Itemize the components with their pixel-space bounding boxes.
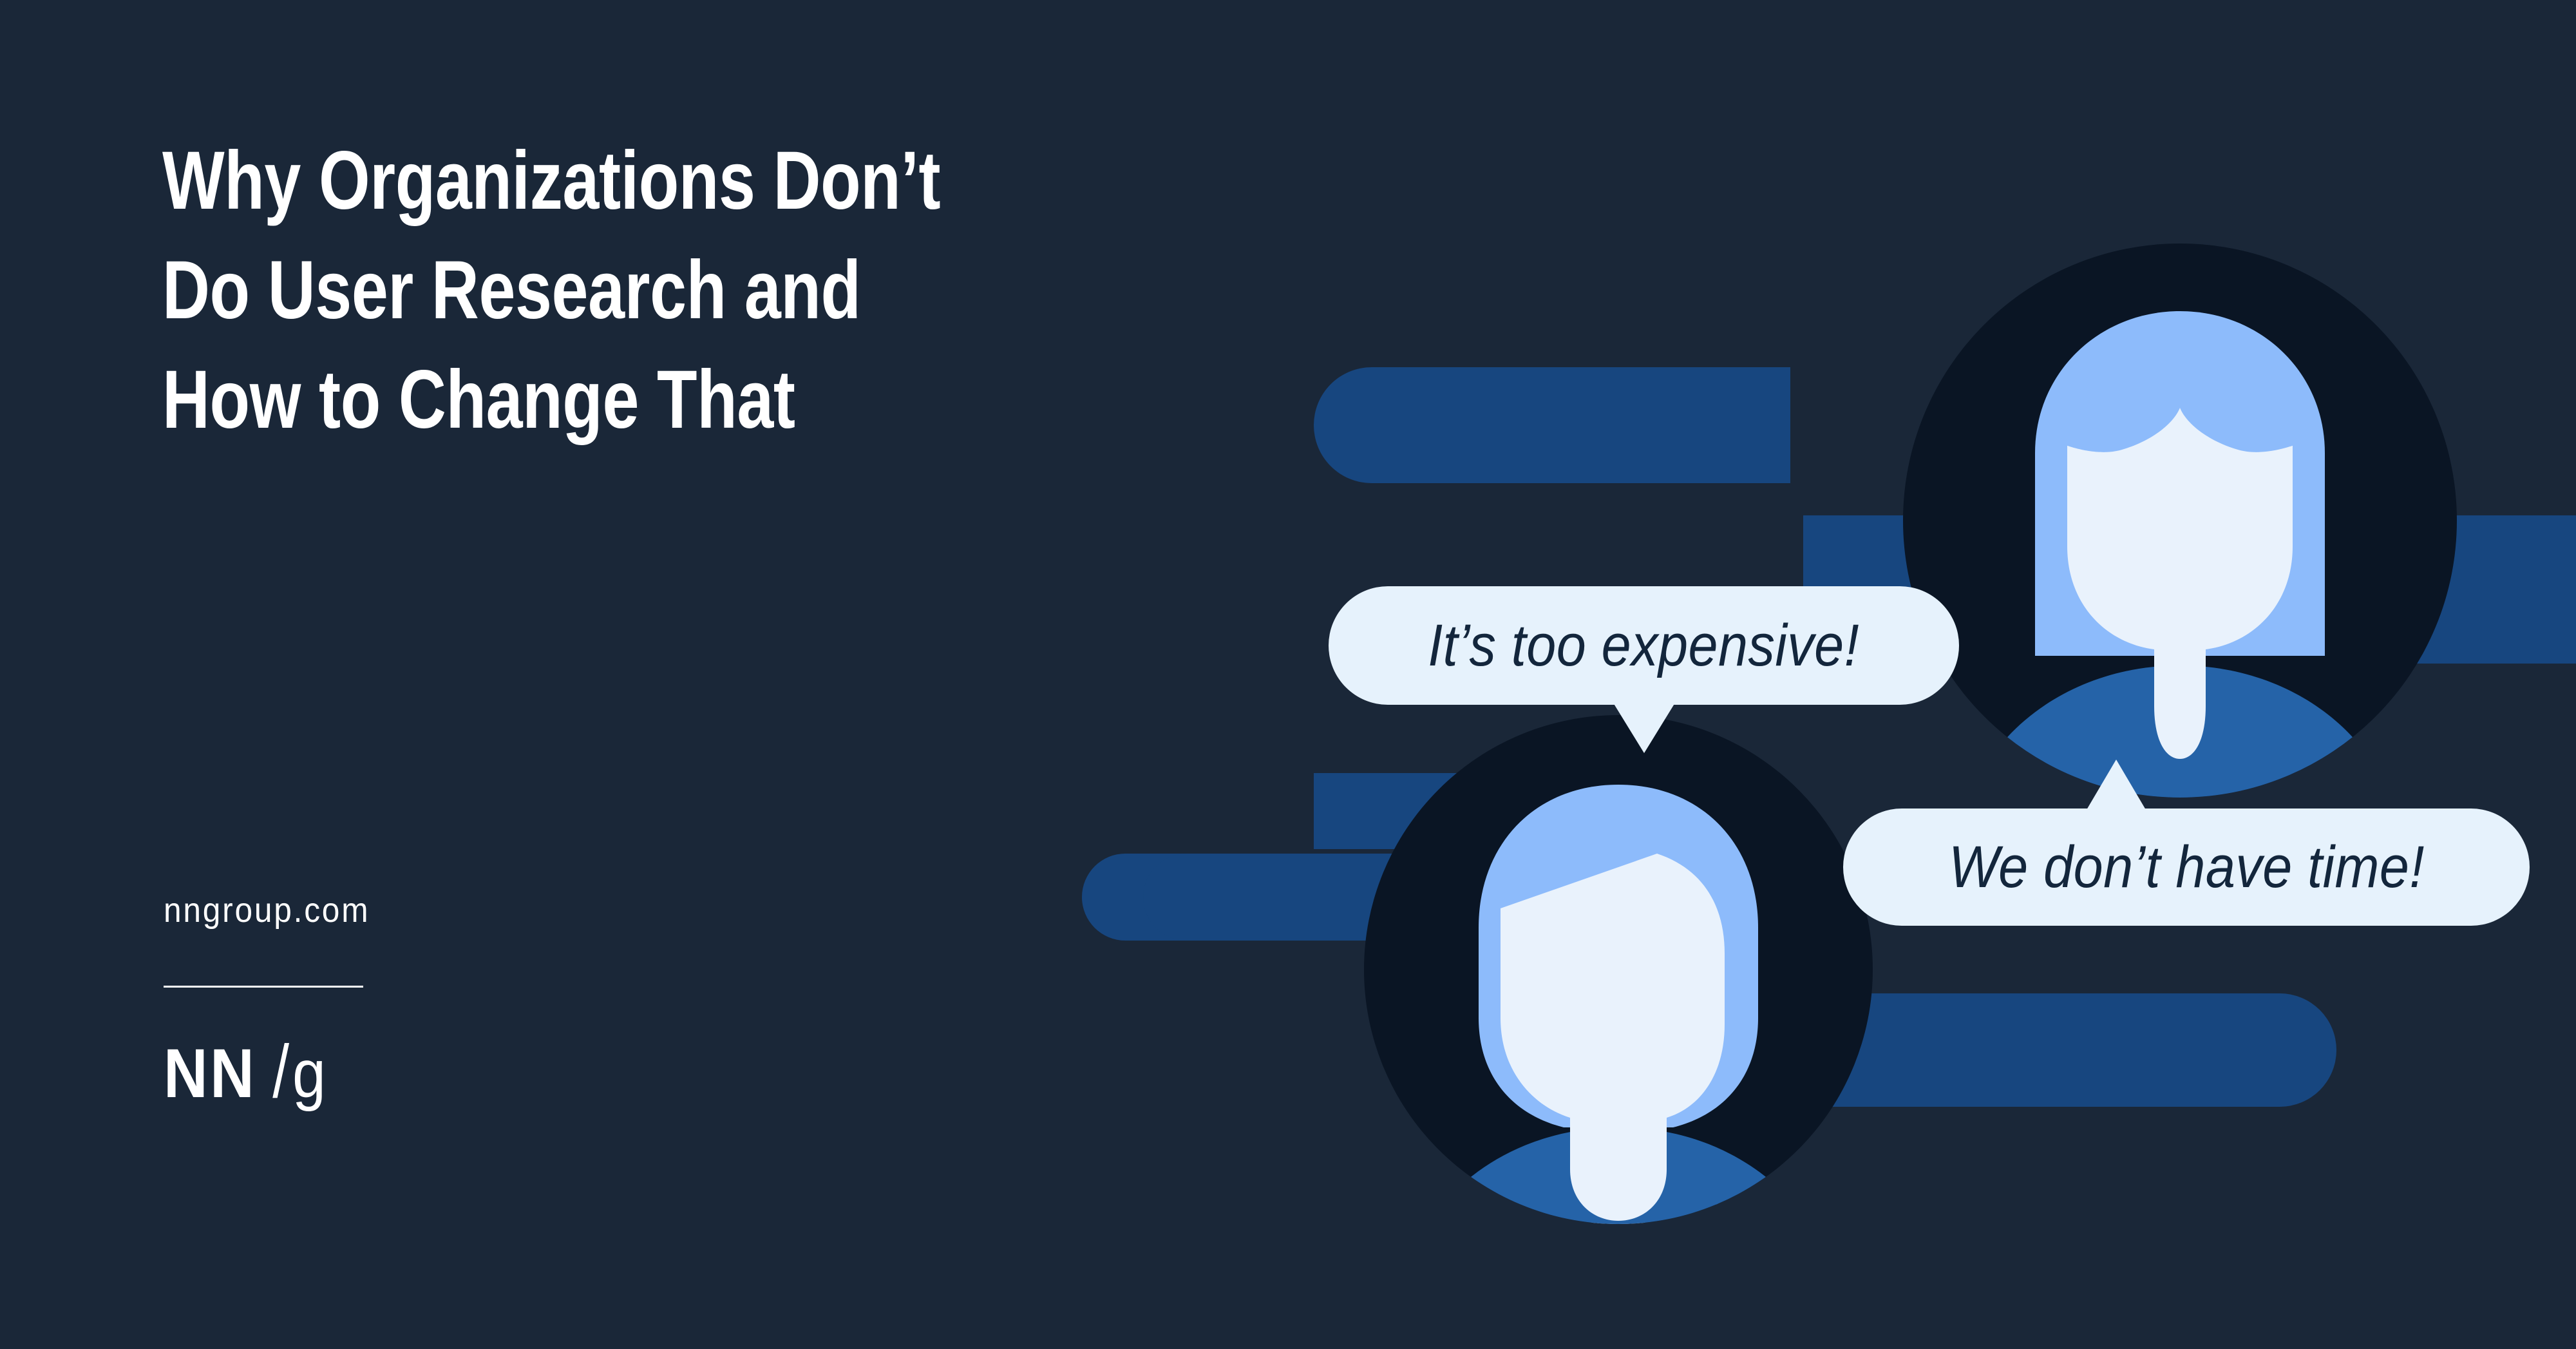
- speech-bubble-tail-up: [2087, 760, 2146, 810]
- avatar-neck: [1570, 1102, 1667, 1221]
- speech-bubble-expensive-text: It’s too expensive!: [1428, 612, 1860, 680]
- logo-nn-text: NN: [164, 1038, 256, 1108]
- title-line-1: Why Organizations Don’t: [162, 126, 1244, 236]
- website-url[interactable]: nngroup.com: [164, 890, 370, 930]
- nng-logo[interactable]: NN / g: [164, 1034, 388, 1109]
- poster-canvas: It’s too expensive! We don’t have time! …: [0, 0, 2576, 1349]
- page-title: Why Organizations Don’t Do User Research…: [162, 126, 1515, 455]
- title-line-2: Do User Research and: [162, 236, 1244, 345]
- avatar-neck: [2154, 630, 2206, 759]
- logo-slash: /: [272, 1034, 289, 1109]
- speech-bubble-time-text: We don’t have time!: [1949, 834, 2425, 901]
- avatar-bottom: [1364, 715, 1873, 1224]
- title-line-3: How to Change That: [162, 345, 1244, 455]
- speech-bubble-tail-down: [1613, 703, 1675, 753]
- divider-rule: [164, 986, 363, 988]
- speech-bubble-time: We don’t have time!: [1843, 808, 2530, 926]
- logo-g-text: g: [292, 1040, 326, 1108]
- avatar-top: [1903, 244, 2457, 798]
- branding-block: nngroup.com NN / g: [164, 890, 388, 1109]
- speech-bubble-expensive: It’s too expensive!: [1329, 586, 1959, 705]
